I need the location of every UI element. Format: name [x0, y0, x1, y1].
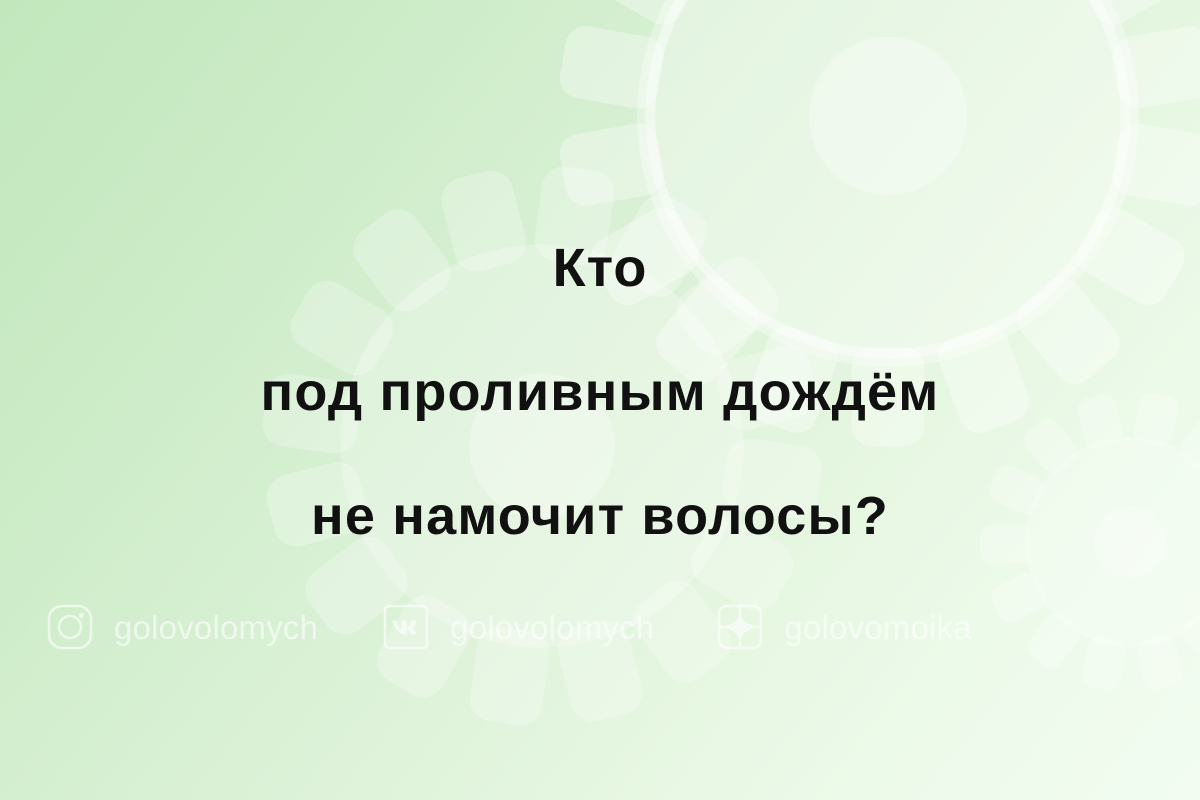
- riddle-text: Кто под проливным дождём не намочит воло…: [0, 175, 1200, 609]
- riddle-line-1: Кто: [0, 237, 1200, 299]
- riddle-line-2: под проливным дождём: [0, 361, 1200, 423]
- dzen-handle: golovomoika: [784, 611, 971, 644]
- riddle-line-3: не намочит волосы?: [0, 485, 1200, 547]
- instagram-handle: golovolomych: [114, 611, 318, 644]
- riddle-card: Кто под проливным дождём не намочит воло…: [0, 0, 1200, 800]
- vk-handle: golovolomych: [450, 611, 654, 644]
